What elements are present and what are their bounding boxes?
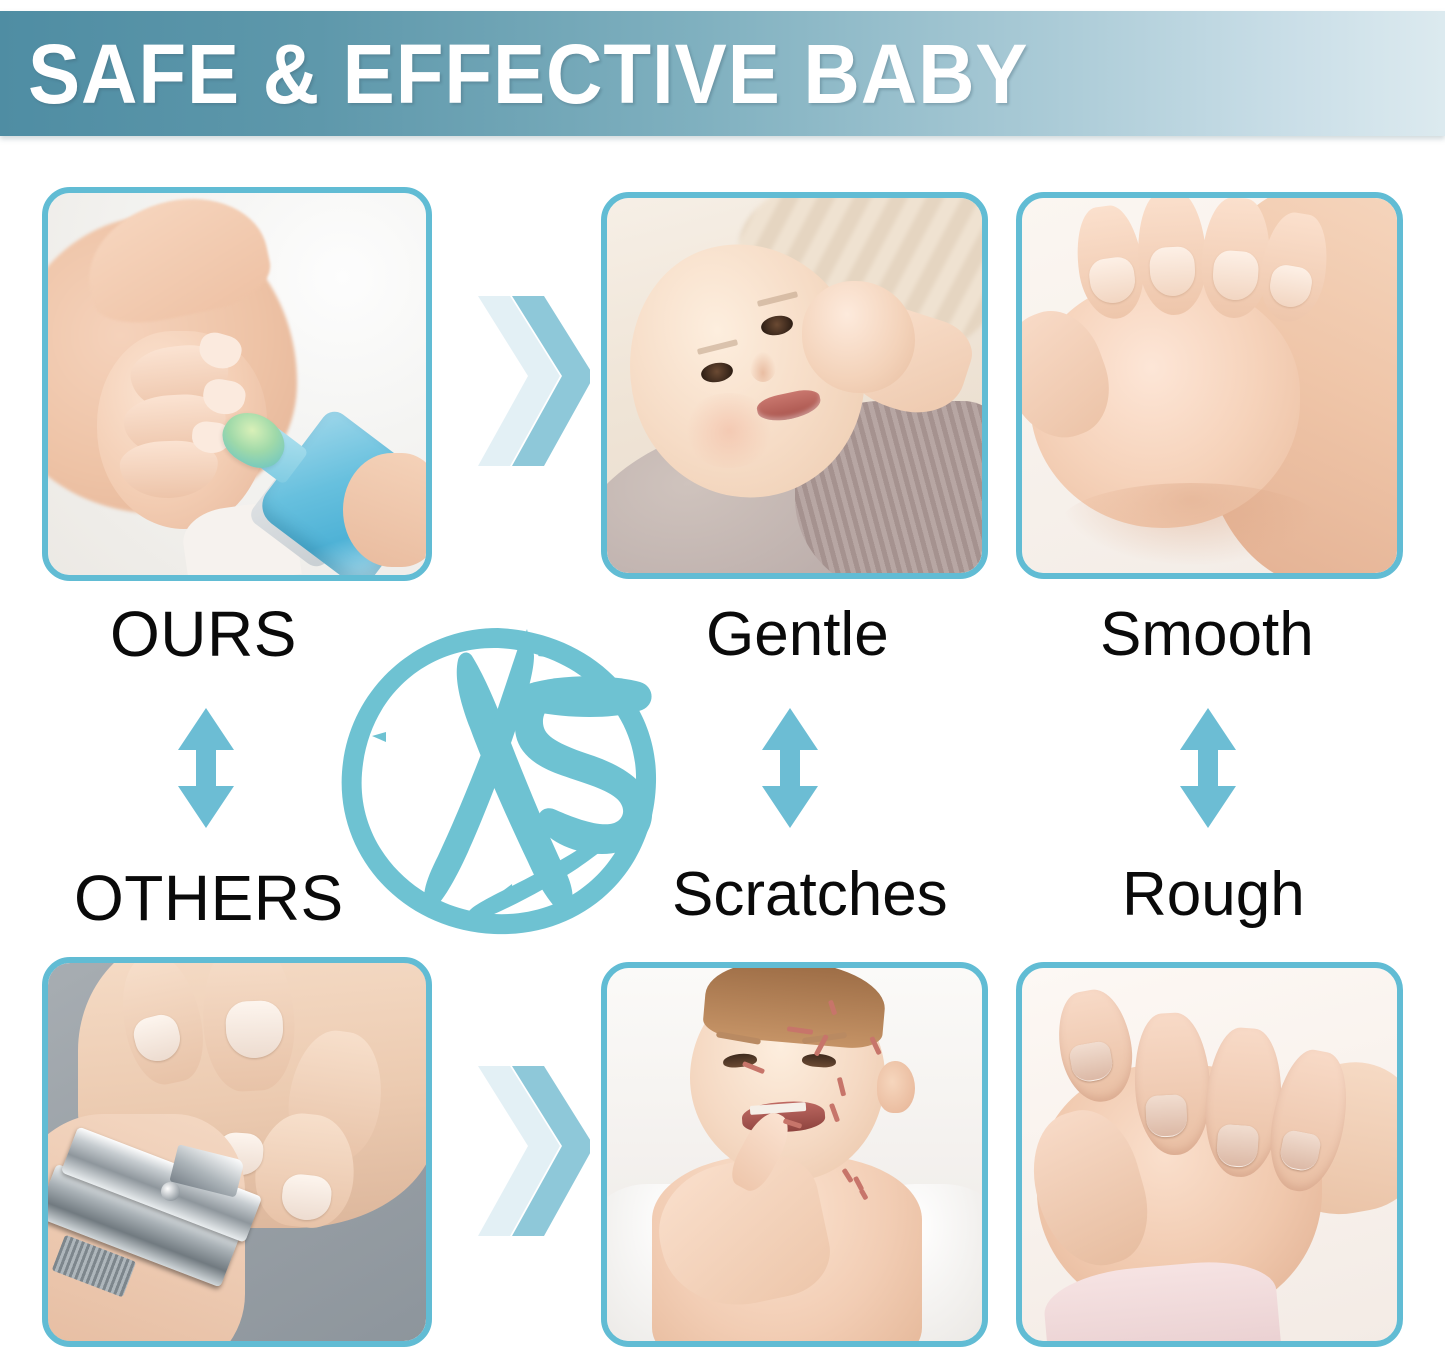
label-rough: Rough — [1122, 864, 1305, 926]
photo-happy-baby — [607, 198, 982, 573]
panel-gentle-baby — [601, 192, 988, 579]
double-chevron-right-icon-top — [470, 288, 590, 478]
photo-rough-baby-nails — [1022, 968, 1397, 1341]
vs-brush-circle-icon — [322, 622, 678, 940]
double-headed-vertical-arrow-icon-ours — [176, 706, 236, 835]
double-chevron-right-icon-bottom — [470, 1058, 590, 1248]
label-smooth: Smooth — [1100, 604, 1314, 666]
photo-ours-trimmer — [48, 193, 426, 575]
label-ours: OURS — [110, 602, 297, 666]
page-title: SAFE & EFFECTIVE BABY — [28, 32, 1028, 116]
photo-crying-baby — [607, 968, 982, 1341]
panel-ours-product — [42, 187, 432, 581]
product-comparison-infographic: SAFE & EFFECTIVE BABY — [0, 0, 1445, 1349]
photo-nail-clippers — [48, 963, 426, 1341]
header-banner: SAFE & EFFECTIVE BABY — [0, 11, 1445, 136]
panel-others-clippers — [42, 957, 432, 1347]
double-headed-vertical-arrow-icon-smooth — [1178, 706, 1238, 835]
panel-smooth-nails — [1016, 192, 1403, 579]
panel-scratches-baby — [601, 962, 988, 1347]
photo-smooth-baby-hand — [1022, 198, 1397, 573]
double-headed-vertical-arrow-icon-gentle — [760, 706, 820, 835]
label-others: OTHERS — [74, 866, 344, 930]
label-scratches: Scratches — [672, 864, 948, 926]
panel-rough-nails — [1016, 962, 1403, 1347]
label-gentle: Gentle — [706, 604, 889, 666]
